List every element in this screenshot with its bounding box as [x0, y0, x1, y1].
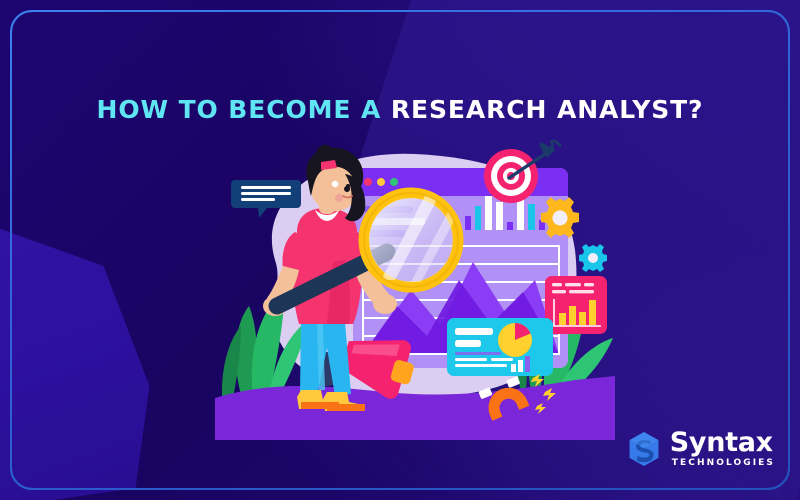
page-title-part-2: RESEARCH ANALYST?	[391, 95, 704, 124]
logo-wordmark: Syntax TECHNOLOGIES	[670, 429, 775, 468]
illustration-svg	[215, 140, 615, 440]
browser-dot-red[interactable]	[364, 178, 372, 186]
logo-brand-name: Syntax	[670, 429, 775, 456]
character-hand-right	[373, 294, 397, 314]
hero-illustration	[215, 140, 615, 440]
browser-dot-green[interactable]	[390, 178, 398, 186]
page-title: HOW TO BECOME A RESEARCH ANALYST?	[0, 95, 800, 124]
logo-tagline: TECHNOLOGIES	[670, 459, 775, 468]
page-title-part-1: HOW TO BECOME A	[97, 95, 382, 124]
browser-dot-yellow[interactable]	[377, 178, 385, 186]
syntax-hexagon-logo-icon	[627, 431, 661, 467]
banner-graphic: HOW TO BECOME A RESEARCH ANALYST?	[0, 0, 800, 500]
character-earring	[332, 181, 338, 187]
gear-small-icon	[579, 244, 607, 272]
brand-logo[interactable]: Syntax TECHNOLOGIES	[627, 429, 775, 468]
character-eye	[346, 184, 350, 188]
cyan-pie-chart-card	[447, 318, 553, 376]
gear-large-icon	[541, 197, 579, 238]
pink-bar-chart-card	[545, 276, 607, 334]
character-hair-bun	[316, 145, 334, 163]
pie-chart	[498, 323, 532, 357]
